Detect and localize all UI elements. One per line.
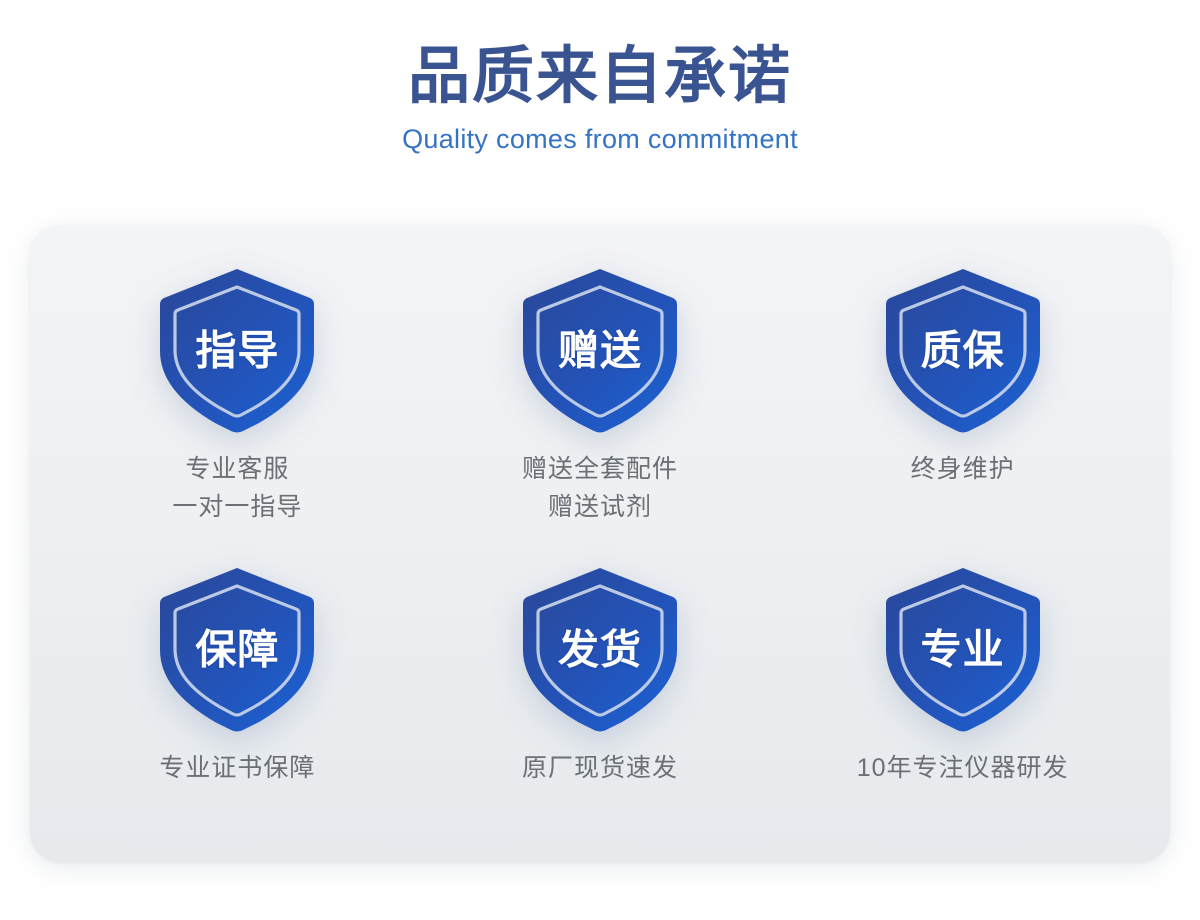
- feature-item-gift: 赠送 赠送全套配件 赠送试剂: [419, 243, 782, 546]
- caption-line: 终身维护: [911, 450, 1015, 488]
- caption-line: 一对一指导: [172, 488, 302, 526]
- caption-line: 专业客服: [172, 450, 302, 488]
- feature-item-expertise: 专业 10年专注仪器研发: [781, 546, 1144, 849]
- promo-banner: 品质来自承诺 Quality comes from commitment: [0, 0, 1200, 920]
- caption-line: 专业证书保障: [159, 749, 315, 787]
- feature-item-guidance: 指导 专业客服 一对一指导: [56, 243, 419, 546]
- feature-caption: 专业客服 一对一指导: [172, 450, 302, 526]
- page-subtitle: Quality comes from commitment: [0, 123, 1200, 155]
- feature-caption: 终身维护: [911, 450, 1015, 488]
- feature-item-shipping: 发货 原厂现货速发: [419, 546, 782, 849]
- features-card: 指导 专业客服 一对一指导: [30, 225, 1170, 862]
- shield-icon: 赠送: [518, 265, 682, 433]
- shield-icon: 发货: [518, 564, 682, 732]
- caption-line: 赠送全套配件: [522, 450, 678, 488]
- feature-caption: 10年专注仪器研发: [857, 749, 1069, 787]
- feature-item-warranty: 质保 终身维护: [781, 243, 1144, 546]
- caption-line: 赠送试剂: [522, 488, 678, 526]
- shield-icon: 指导: [155, 265, 319, 433]
- feature-caption: 赠送全套配件 赠送试剂: [522, 450, 678, 526]
- feature-caption: 原厂现货速发: [522, 749, 678, 787]
- page-title: 品质来自承诺: [0, 44, 1200, 111]
- caption-line: 10年专注仪器研发: [857, 749, 1069, 787]
- shield-icon: 保障: [155, 564, 319, 732]
- page-header: 品质来自承诺 Quality comes from commitment: [0, 0, 1200, 155]
- feature-caption: 专业证书保障: [159, 749, 315, 787]
- caption-line: 原厂现货速发: [522, 749, 678, 787]
- feature-item-certification: 保障 专业证书保障: [56, 546, 419, 849]
- features-grid: 指导 专业客服 一对一指导: [30, 225, 1170, 862]
- shield-icon: 质保: [881, 265, 1045, 433]
- shield-icon: 专业: [881, 564, 1045, 732]
